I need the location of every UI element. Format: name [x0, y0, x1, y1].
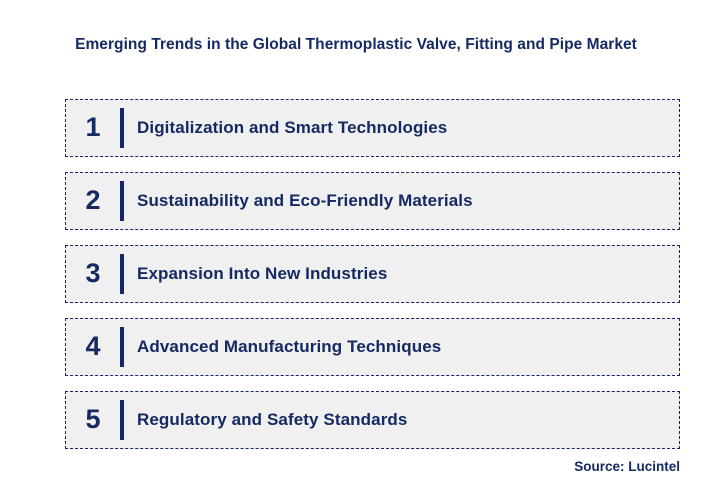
- trend-label: Expansion Into New Industries: [124, 264, 679, 284]
- trend-label: Digitalization and Smart Technologies: [124, 118, 679, 138]
- trend-number: 4: [66, 333, 120, 362]
- trend-number: 1: [66, 114, 120, 143]
- trend-label: Regulatory and Safety Standards: [124, 410, 679, 430]
- trend-list-item: 2 Sustainability and Eco-Friendly Materi…: [65, 172, 680, 230]
- source-attribution: Source: Lucintel: [574, 459, 680, 474]
- trend-number: 3: [66, 260, 120, 289]
- trend-list-item: 1 Digitalization and Smart Technologies: [65, 99, 680, 157]
- trend-list-item: 3 Expansion Into New Industries: [65, 245, 680, 303]
- trend-list-item: 5 Regulatory and Safety Standards: [65, 391, 680, 449]
- trend-list-item: 4 Advanced Manufacturing Techniques: [65, 318, 680, 376]
- trend-label: Advanced Manufacturing Techniques: [124, 337, 679, 357]
- trend-number: 5: [66, 406, 120, 435]
- trend-number: 2: [66, 187, 120, 216]
- trend-list: 1 Digitalization and Smart Technologies …: [65, 99, 680, 449]
- infographic-canvas: Emerging Trends in the Global Thermoplas…: [0, 0, 712, 501]
- page-title: Emerging Trends in the Global Thermoplas…: [0, 36, 712, 54]
- trend-label: Sustainability and Eco-Friendly Material…: [124, 191, 679, 211]
